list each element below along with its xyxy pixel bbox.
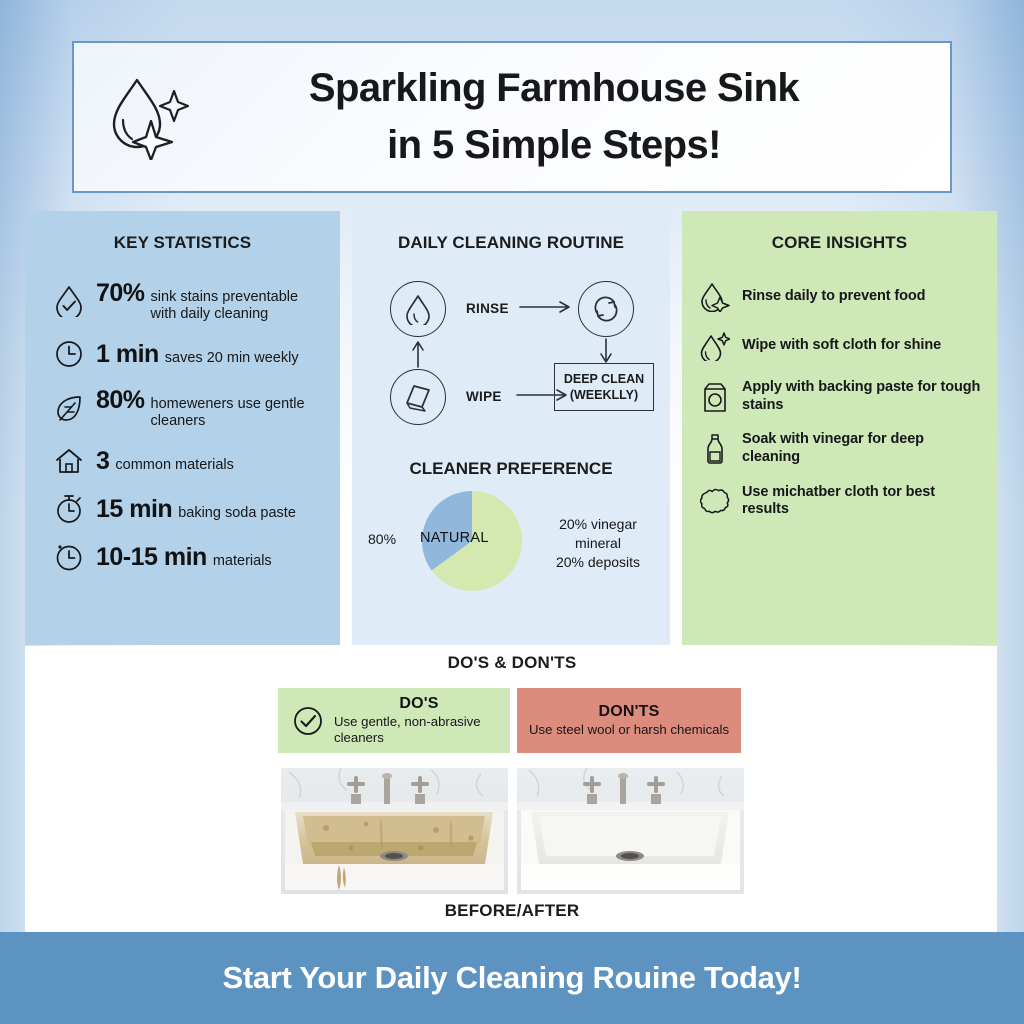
box-package-icon (700, 381, 730, 413)
stat-value: 10-15 min (96, 543, 207, 572)
deep-clean-line-2: (WEEKLLY) (570, 387, 638, 403)
cloth-blob-icon (700, 485, 730, 517)
arrow-rinse-to-cycle (518, 299, 578, 315)
dos-heading: DO'S (399, 695, 438, 712)
droplet-icon (404, 293, 432, 325)
dos-text: Use gentle, non-abrasive cleaners (334, 714, 504, 746)
stat-row: 70% sink stains preventable with daily c… (41, 279, 324, 322)
footer-cta-bar: Start Your Daily Cleaning Rouine Today! (0, 932, 1024, 1024)
stained-sink-image (281, 768, 508, 894)
stat-value: 3 (96, 447, 109, 476)
insight-item: Rinse daily to prevent food (698, 281, 981, 313)
stat-label: materials (213, 553, 272, 570)
stat-row: 10-15 min materials (41, 541, 324, 573)
daily-routine-panel: DAILY CLEANING ROUTINE (352, 211, 670, 645)
pie-right-annotations: 20% vinegar mineral 20% deposits (536, 515, 660, 572)
stat-value: 1 min (96, 340, 159, 369)
droplet-check-icon (53, 285, 85, 317)
check-circle-icon (288, 705, 328, 737)
stat-row: 3 common materials (41, 445, 324, 477)
routine-panel-title: DAILY CLEANING ROUTINE (368, 233, 654, 253)
rinse-node (390, 281, 446, 337)
pie-center-label: NATURAL (420, 530, 489, 546)
cleaner-preference-chart: 80% NATURAL 20% vinegar mineral 20% depo… (368, 489, 654, 601)
core-insights-panel: CORE INSIGHTS Rinse daily to prevent foo… (682, 211, 997, 645)
core-panel-title: CORE INSIGHTS (698, 233, 981, 253)
header-banner: Sparkling Farmhouse Sink in 5 Simple Ste… (72, 41, 952, 193)
insight-text: Soak with vinegar for deep cleaning (742, 431, 981, 466)
key-statistics-panel: KEY STATISTICS 70% sink stains preventab… (25, 211, 340, 645)
cleaner-preference-title: CLEANER PREFERENCE (368, 459, 654, 479)
stat-value: 15 min (96, 495, 172, 524)
donts-card: DON'TS Use steel wool or harsh chemicals (517, 688, 741, 753)
pie-annotation-line-1: 20% vinegar (536, 515, 660, 534)
cycle-node (578, 281, 634, 337)
pie-left-percent: 80% (368, 531, 396, 547)
wipe-label: WIPE (466, 389, 502, 404)
logo (74, 74, 224, 160)
insight-item: Wipe with soft cloth for shine (698, 330, 981, 362)
stat-label: baking soda paste (178, 505, 296, 522)
deep-clean-line-1: DEEP CLEAN (564, 371, 644, 387)
before-photo (281, 768, 508, 894)
footer-cta-text: Start Your Daily Cleaning Rouine Today! (222, 960, 801, 996)
title-line-2: in 5 Simple Steps! (224, 117, 884, 174)
stat-value: 70% (96, 279, 145, 308)
insight-text: Apply with backing paste for tough stain… (742, 379, 981, 414)
bottle-icon (700, 433, 730, 465)
insight-item: Soak with vinegar for deep cleaning (698, 431, 981, 466)
insight-text: Rinse daily to prevent food (742, 288, 925, 306)
wipe-node (390, 369, 446, 425)
clock-icon (53, 541, 85, 573)
stopwatch-icon (53, 493, 85, 525)
stat-label: saves 20 min weekly (165, 350, 299, 367)
donts-text: Use steel wool or harsh chemicals (523, 722, 735, 738)
insight-item: Use michatber cloth tor best results (698, 484, 981, 519)
droplet-star-icon (700, 330, 730, 362)
arrow-cycle-to-deepclean (598, 337, 614, 365)
page-title: Sparkling Farmhouse Sink in 5 Simple Ste… (224, 60, 950, 174)
title-line-1: Sparkling Farmhouse Sink (224, 60, 884, 117)
before-after-label: BEFORE/AFTER (0, 901, 1024, 921)
stat-value: 80% (96, 386, 145, 415)
insight-text: Wipe with soft cloth for shine (742, 337, 941, 355)
insight-text: Use michatber cloth tor best results (742, 484, 981, 519)
bottom-white-band (25, 646, 997, 932)
insight-item: Apply with backing paste for tough stain… (698, 379, 981, 414)
pie-annotation-line-2: mineral (536, 534, 660, 553)
dos-donts-title: DO'S & DON'TS (0, 653, 1024, 673)
stat-row: 1 min saves 20 min weekly (41, 338, 324, 370)
droplet-sparkle-icon (107, 74, 191, 160)
infographic-root: Sparkling Farmhouse Sink in 5 Simple Ste… (0, 0, 1024, 1024)
pie-annotation-line-3: 20% deposits (536, 553, 660, 572)
cloth-icon (403, 382, 433, 412)
after-photo (517, 768, 744, 894)
stat-label: common materials (115, 457, 233, 474)
recycle-arrows-icon (590, 293, 622, 325)
leaf-icon (53, 392, 85, 424)
clock-icon (53, 338, 85, 370)
donts-heading: DON'TS (598, 703, 659, 720)
droplet-sparkle-icon (700, 281, 730, 313)
stat-label: sink stains preventable with daily clean… (151, 289, 319, 322)
dos-card: DO'S Use gentle, non-abrasive cleaners (278, 688, 510, 753)
deep-clean-box: DEEP CLEAN (WEEKLLY) (554, 363, 654, 411)
stats-panel-title: KEY STATISTICS (41, 233, 324, 253)
stat-row: 80% homeweners use gentle cleaners (41, 386, 324, 429)
routine-flowchart: RINSE WIPE DEEP CLEAN (WEEKLLY) (370, 277, 652, 445)
rinse-label: RINSE (466, 301, 509, 316)
arrow-wipe-to-rinse (410, 339, 426, 369)
house-icon (53, 445, 85, 477)
clean-sink-image (517, 768, 744, 894)
stat-label: homeweners use gentle cleaners (151, 396, 319, 429)
stat-row: 15 min baking soda paste (41, 493, 324, 525)
